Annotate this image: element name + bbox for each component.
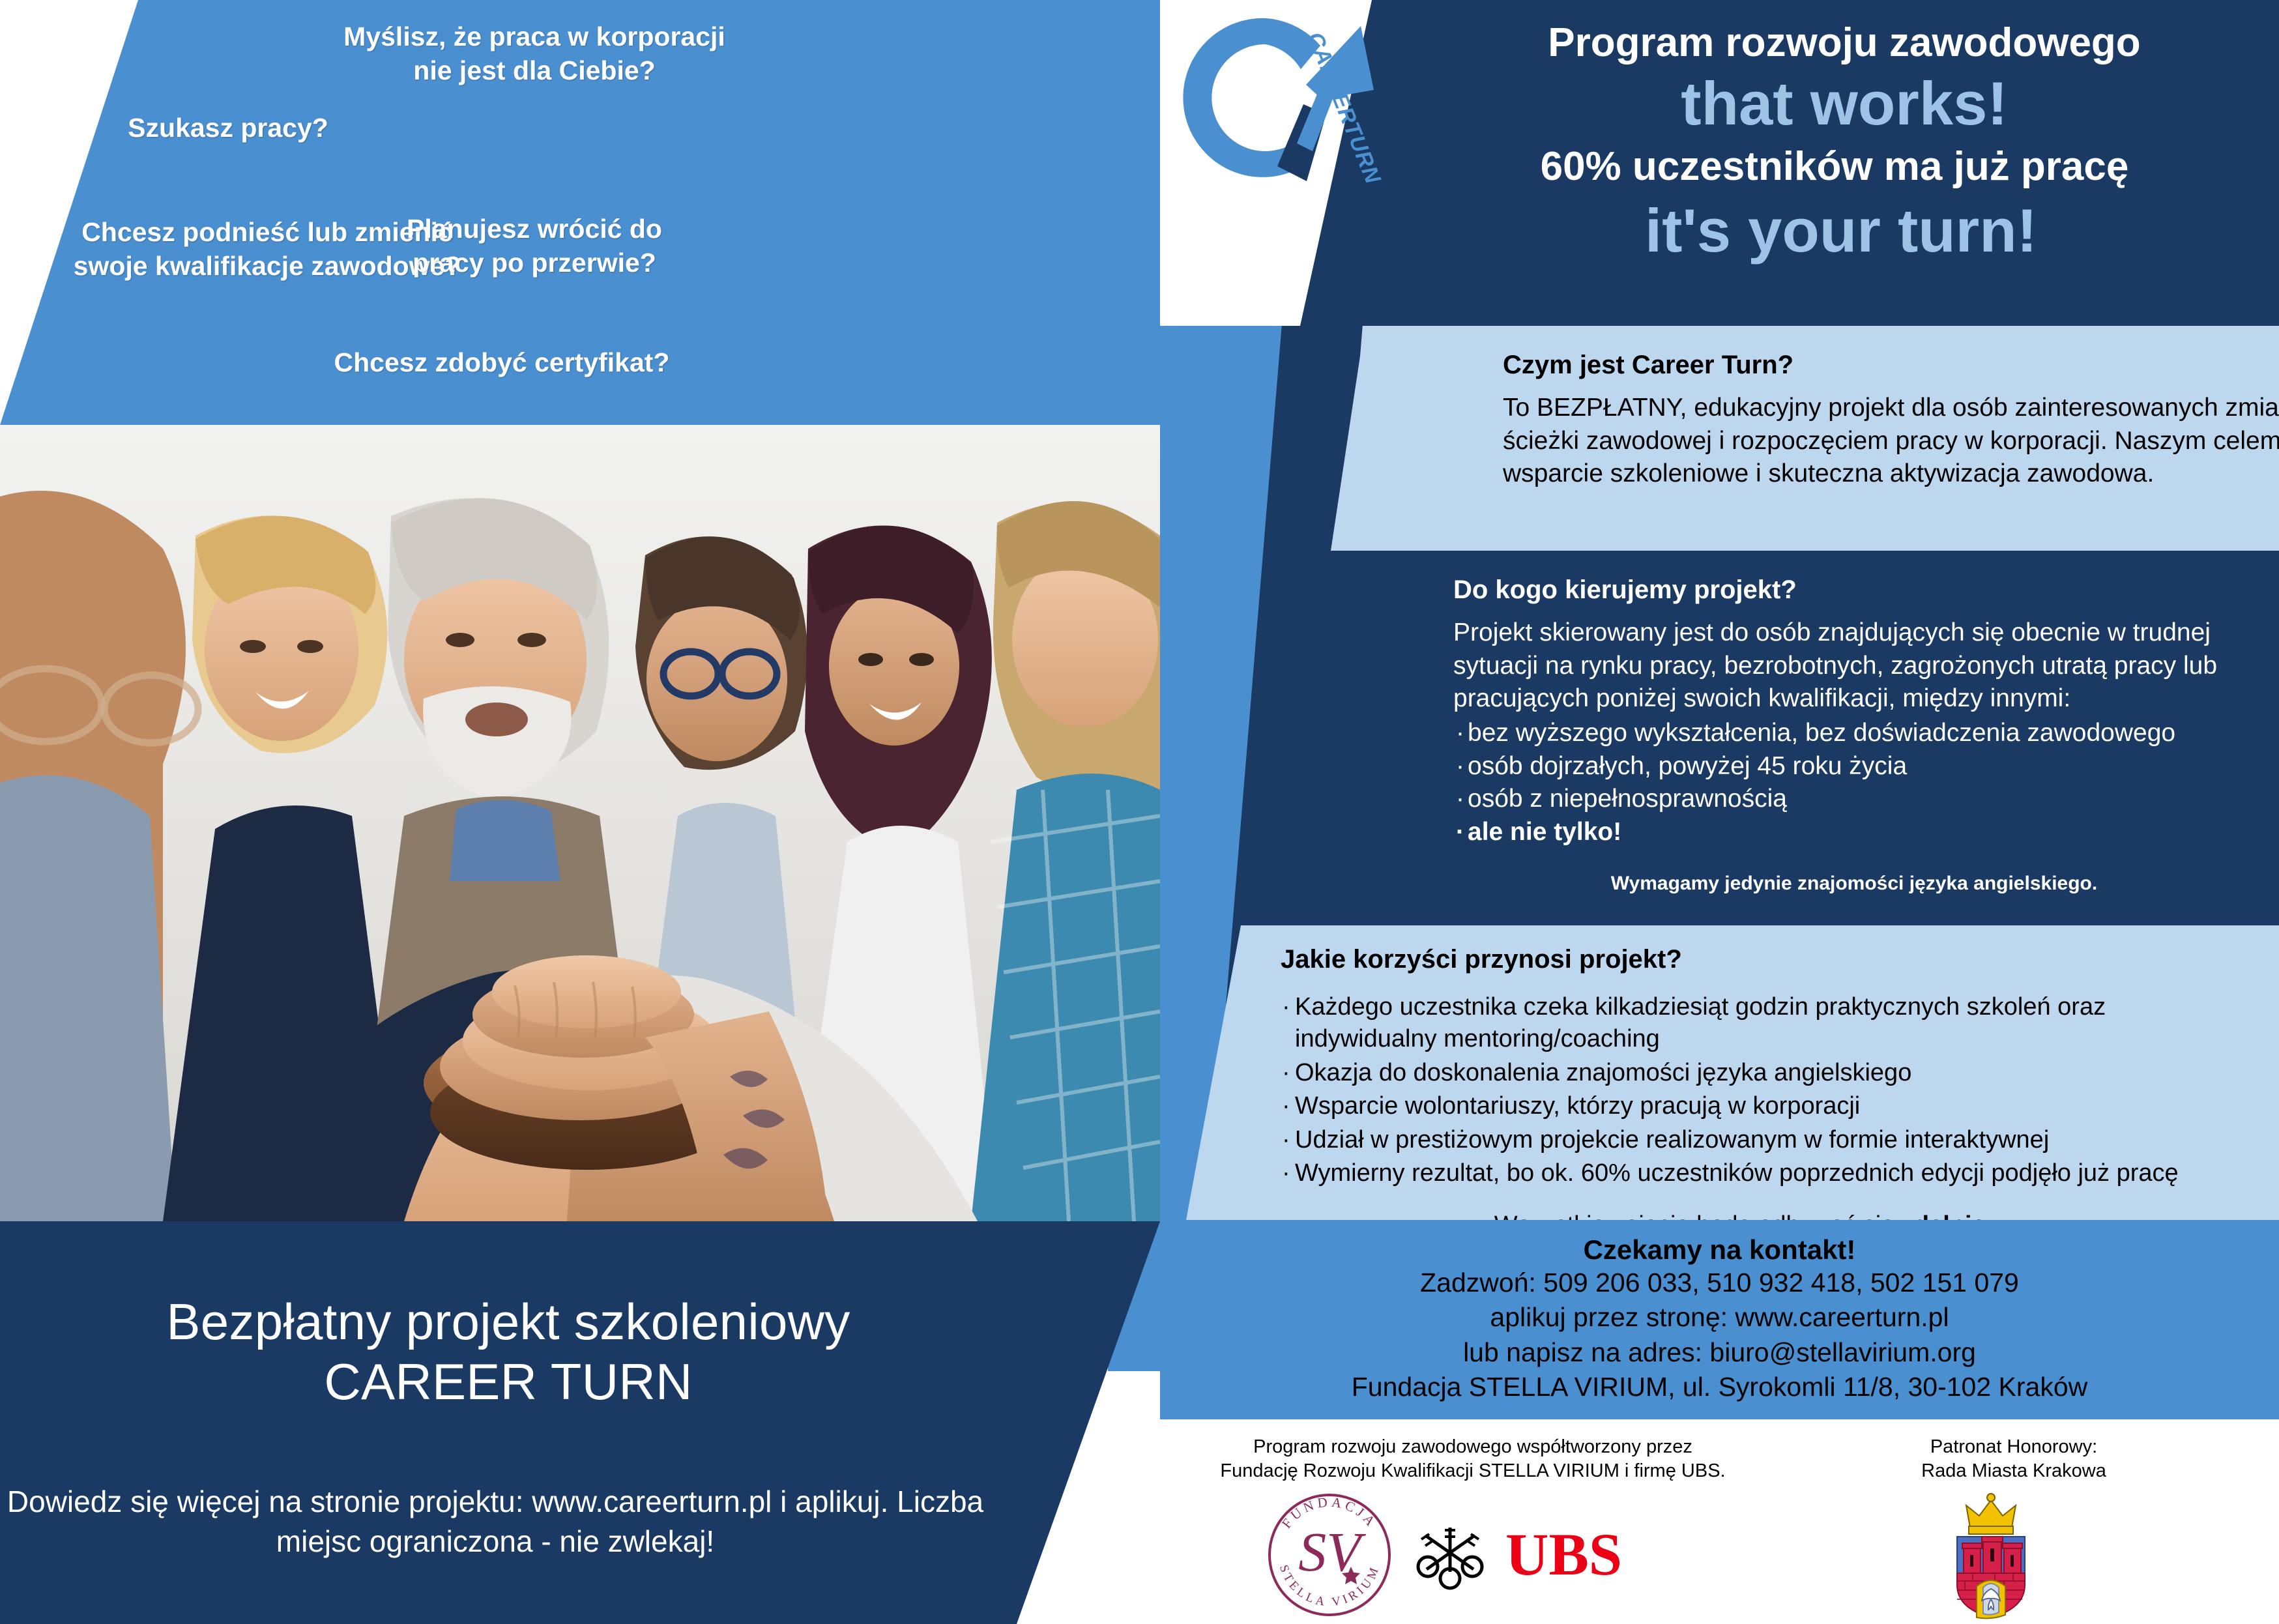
right-column: Program rozwoju zawodowego that works! 6…	[1160, 0, 2279, 1624]
benefits-note-prefix: Wszystkie zajęcia będą odbywać się	[1494, 1211, 1902, 1220]
left-column: Szukasz pracy? Myślisz, że praca w korpo…	[0, 0, 1160, 1624]
contact-title: Czekamy na kontakt!	[1160, 1220, 2279, 1266]
question-5: Chcesz zdobyć certyfikat?	[261, 345, 743, 379]
patron-line-2: Rada Miasta Krakowa	[1812, 1459, 2216, 1483]
ubs-logo: UBS	[1411, 1516, 1619, 1594]
what-heading: Czym jest Career Turn?	[1503, 351, 2279, 380]
contact-address: Fundacja STELLA VIRIUM, ul. Syrokomli 11…	[1160, 1370, 2279, 1404]
who-intro: Projekt skierowany jest do osób znajdują…	[1453, 616, 2279, 716]
who-heading: Do kogo kierujemy projekt?	[1453, 575, 2279, 605]
benefits-list: Każdego uczestnika czeka kilkadziesiąt g…	[1281, 991, 2245, 1189]
question-2: Myślisz, że praca w korporacjinie jest d…	[287, 20, 782, 88]
benefits-heading: Jakie korzyści przynosi projekt?	[1281, 945, 2245, 974]
body-stripes: Czym jest Career Turn? To BEZPŁATNY, edu…	[1160, 326, 2279, 1220]
crown-icon	[1966, 1494, 2016, 1534]
list-item: osób z niepełnosprawnością	[1453, 783, 2279, 816]
krakow-coat-of-arms-logo	[1939, 1490, 2059, 1620]
question-1: Szukasz pracy?	[98, 111, 358, 145]
card-who-for: Do kogo kierujemy projekt? Projekt skier…	[1258, 551, 2279, 925]
list-item: Udział w prestiżowym projekcie realizowa…	[1281, 1124, 2245, 1156]
patron-block: Patronat Honorowy: Rada Miasta Krakowa	[1812, 1435, 2216, 1483]
who-list: bez wyższego wykształcenia, bez doświadc…	[1453, 717, 2279, 849]
list-item: Wsparcie wolontariuszy, którzy pracują w…	[1281, 1090, 2245, 1122]
list-item: ale nie tylko!	[1453, 816, 2279, 849]
bottom-left-panel: Bezpłatny projekt szkoleniowyCAREER TURN…	[0, 1221, 1160, 1624]
question-4: Planujesz wrócić dopracy po przerwie?	[365, 212, 704, 280]
stella-virium-seal-logo: FUNDACJA STELLA VIRIUM SV	[1264, 1490, 1395, 1620]
ubs-keys-icon	[1418, 1528, 1482, 1588]
footer: Program rozwoju zawodowego współtworzony…	[1160, 1419, 2279, 1624]
footer-logos: FUNDACJA STELLA VIRIUM SV	[1251, 1490, 1747, 1620]
benefits-note: Wszystkie zajęcia będą odbywać się zdaln…	[1281, 1211, 2206, 1220]
questions-band: Szukasz pracy? Myślisz, że praca w korpo…	[0, 0, 1160, 425]
card-what-is: Czym jest Career Turn? To BEZPŁATNY, edu…	[1288, 326, 2279, 551]
list-item: Wymierny rezultat, bo ok. 60% uczestnikó…	[1281, 1157, 2245, 1189]
what-body: To BEZPŁATNY, edukacyjny projekt dla osó…	[1503, 392, 2279, 491]
list-item: bez wyższego wykształcenia, bez doświadc…	[1453, 717, 2279, 750]
patron-line-1: Patronat Honorowy:	[1812, 1435, 2216, 1459]
list-item: Każdego uczestnika czeka kilkadziesiąt g…	[1281, 991, 2245, 1056]
header-line-4: it's your turn!	[1434, 196, 2248, 266]
header-line-2: that works!	[1440, 68, 2248, 139]
group-hands-photo	[0, 425, 1160, 1221]
cofounder-line-2: Fundację Rozwoju Kwalifikacji STELLA VIR…	[1199, 1459, 1747, 1483]
contact-phones[interactable]: Zadzwoń: 509 206 033, 510 932 418, 502 1…	[1160, 1266, 2279, 1300]
cofounder-block: Program rozwoju zawodowego współtworzony…	[1199, 1435, 1747, 1483]
poster-canvas: Szukasz pracy? Myślisz, że praca w korpo…	[0, 0, 2279, 1624]
project-title: Bezpłatny projekt szkoleniowyCAREER TURN	[0, 1292, 1017, 1412]
who-note: Wymagamy jedynie znajomości języka angie…	[1453, 873, 2255, 895]
benefits-note-suffix: .	[1986, 1211, 1993, 1220]
contact-band: Czekamy na kontakt! Zadzwoń: 509 206 033…	[1160, 1220, 2279, 1419]
ubs-wordmark: UBS	[1505, 1521, 1619, 1588]
header-line-3: 60% uczestników ma już pracę	[1421, 143, 2248, 190]
contact-website[interactable]: aplikuj przez stronę: www.careerturn.pl	[1160, 1300, 2279, 1335]
header-line-1: Program rozwoju zawodowego	[1440, 20, 2248, 66]
list-item: osób dojrzałych, powyżej 45 roku życia	[1453, 750, 2279, 783]
project-cta: Dowiedz się więcej na stronie projektu: …	[0, 1482, 991, 1561]
card-benefits: Jakie korzyści przynosi projekt? Każdego…	[1186, 925, 2279, 1220]
contact-email[interactable]: lub napisz na adres: biuro@stellavirium.…	[1160, 1335, 2279, 1370]
careerturn-logo: CAREERTURN	[1167, 7, 1382, 196]
cofounder-line-1: Program rozwoju zawodowego współtworzony…	[1199, 1435, 1747, 1459]
list-item: Okazja do doskonalenia znajomości języka…	[1281, 1057, 2245, 1089]
benefits-note-bold: zdalnie	[1902, 1211, 1986, 1220]
